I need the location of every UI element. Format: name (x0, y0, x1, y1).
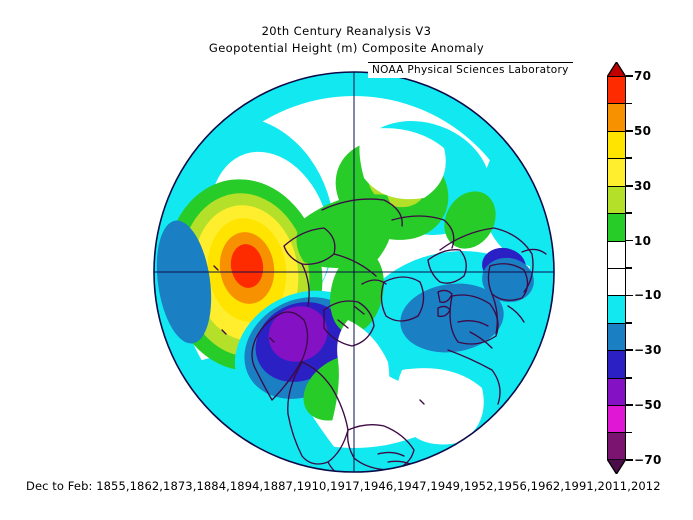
colorbar-segment (608, 379, 625, 406)
colorbar-segment (608, 104, 625, 131)
colorbar-arrow-top (607, 62, 626, 77)
colorbar-tick-label: −10 (634, 288, 662, 302)
colorbar-tick-major (626, 185, 633, 187)
map-canvas (152, 70, 556, 474)
colorbar-arrow-bottom (607, 459, 626, 474)
colorbar-segment (608, 187, 625, 214)
colorbar-tick-major (626, 295, 633, 297)
colorbar-tick-major (626, 75, 633, 77)
colorbar-segment (608, 433, 625, 460)
colorbar-segment (608, 242, 625, 269)
colorbar-segment (608, 296, 625, 323)
colorbar-tick (626, 377, 632, 379)
colorbar-tick (626, 157, 632, 159)
colorbar-segment (608, 324, 625, 351)
figure-root: 20th Century Reanalysis V3 Geopotential … (0, 0, 693, 520)
colorbar-tick-label: −30 (634, 343, 662, 357)
polar-stereographic-map (152, 70, 556, 474)
colorbar-tick-label: 30 (634, 179, 651, 193)
colorbar-tick (626, 212, 632, 214)
colorbar-tick (626, 432, 632, 434)
colorbar-tick-major (626, 130, 633, 132)
colorbar-segment (608, 269, 625, 296)
colorbar-tick-label: 70 (634, 69, 651, 83)
colorbar-segment (608, 351, 625, 378)
composite-years-caption: Dec to Feb: 1855,1862,1873,1884,1894,188… (26, 479, 693, 493)
colorbar-segment (608, 406, 625, 433)
colorbar-segment (608, 159, 625, 186)
colorbar-segment (608, 77, 625, 104)
colorbar-segment (608, 132, 625, 159)
colorbar-tick (626, 322, 632, 324)
colorbar-segments (607, 76, 626, 460)
figure-title-line2: Geopotential Height (m) Composite Anomal… (0, 41, 693, 55)
colorbar-tick-label: 50 (634, 124, 651, 138)
colorbar-tick (626, 267, 632, 269)
colorbar-tick (626, 103, 632, 105)
noaa-credit-label: NOAA Physical Sciences Laboratory (368, 62, 573, 78)
colorbar-tick-label: −50 (634, 398, 662, 412)
colorbar-tick-label: −70 (634, 453, 662, 467)
colorbar-tick-major (626, 459, 633, 461)
colorbar: 70503010−10−30−50−70 (607, 62, 687, 474)
colorbar-tick-major (626, 404, 633, 406)
figure-title-line1: 20th Century Reanalysis V3 (0, 24, 693, 38)
colorbar-segment (608, 214, 625, 241)
colorbar-tick-major (626, 240, 633, 242)
colorbar-tick-major (626, 349, 633, 351)
colorbar-tick-label: 10 (634, 234, 651, 248)
